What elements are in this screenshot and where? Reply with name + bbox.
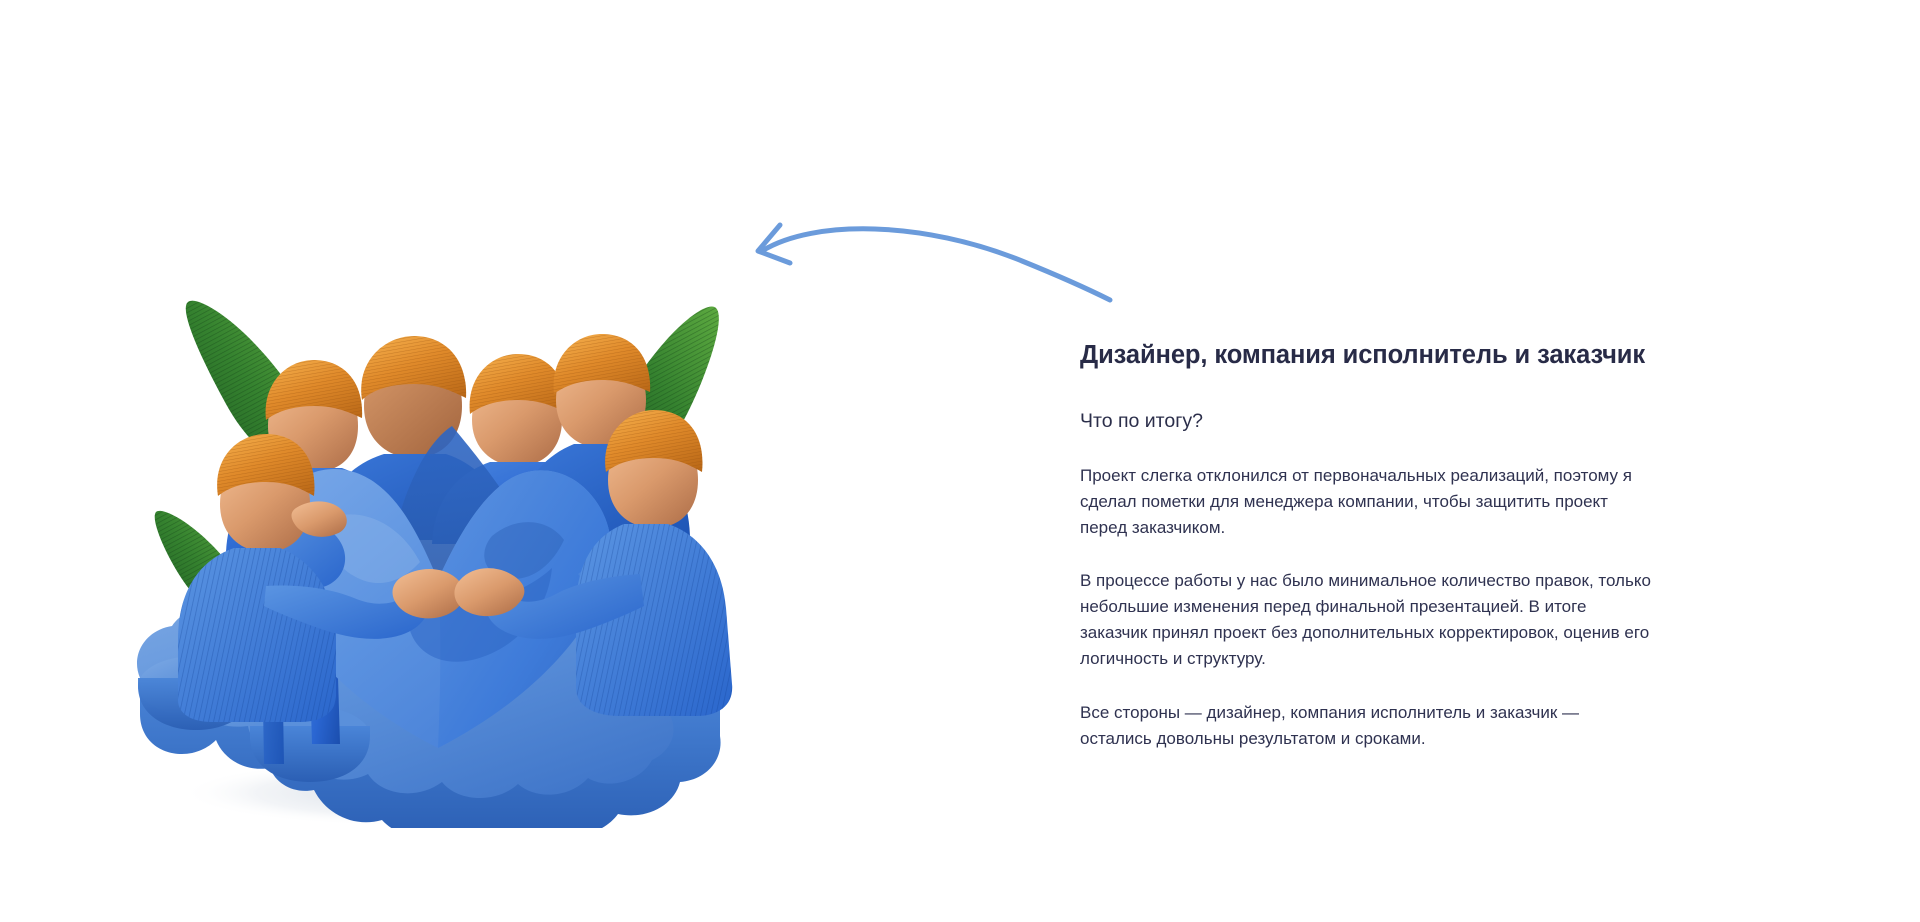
- section-subtitle: Что по итогу?: [1080, 409, 1800, 433]
- arrow-shaft: [762, 229, 1110, 300]
- body-paragraph-1: Проект слегка отклонился от первоначальн…: [1080, 463, 1655, 540]
- body-paragraph-3: Все стороны — дизайнер, компания исполни…: [1080, 700, 1655, 752]
- slide-canvas: Дизайнер, компания исполнитель и заказчи…: [0, 0, 1920, 922]
- arrow-head: [758, 225, 790, 263]
- illustration-3d-team-holding-blue-heart: [100, 268, 800, 828]
- curved-arrow-pointing-left: [740, 215, 1140, 325]
- text-column: Дизайнер, компания исполнитель и заказчи…: [1080, 340, 1800, 751]
- body-paragraph-2: В процессе работы у нас было минимальное…: [1080, 568, 1655, 671]
- page-title: Дизайнер, компания исполнитель и заказчи…: [1080, 340, 1800, 371]
